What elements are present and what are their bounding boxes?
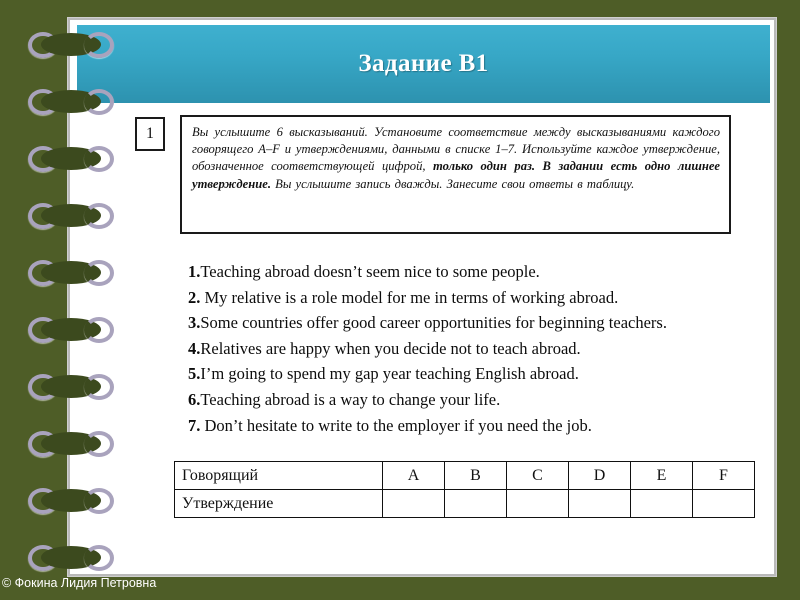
- speaker-letter-cell: F: [693, 462, 755, 490]
- spiral-ring-left-end: [28, 89, 58, 115]
- title-banner: Задание B1: [77, 25, 770, 103]
- statement-item: 6.Teaching abroad is a way to change you…: [188, 387, 776, 413]
- spiral-ring-left-end: [28, 260, 58, 286]
- spiral-ring-left-end: [28, 146, 58, 172]
- task-number-label: 1: [146, 125, 154, 143]
- statement-item: 5.I’m going to spend my gap year teachin…: [188, 361, 776, 387]
- answer-input-cell[interactable]: [631, 490, 693, 518]
- answer-input-cell[interactable]: [693, 490, 755, 518]
- answer-input-cell[interactable]: [569, 490, 631, 518]
- spiral-ring-left-end: [28, 545, 58, 571]
- statement-text: Teaching abroad is a way to change your …: [200, 390, 500, 409]
- statement-item: 7. Don’t hesitate to write to the employ…: [188, 413, 776, 439]
- statement-text: Teaching abroad doesn’t seem nice to som…: [200, 262, 539, 281]
- statement-number: 7.: [188, 416, 200, 435]
- answer-table: ГоворящийABCDEFУтверждение: [174, 461, 755, 518]
- statement-item: 3.Some countries offer good career oppor…: [188, 310, 776, 336]
- statement-item: 1.Teaching abroad doesn’t seem nice to s…: [188, 259, 776, 285]
- spiral-ring-left-end: [28, 317, 58, 343]
- task-number-box: 1: [135, 117, 165, 151]
- instruction-text: Вы услышите 6 высказываний. Установите с…: [192, 124, 720, 193]
- speaker-letter-cell: C: [507, 462, 569, 490]
- statement-number: 5.: [188, 364, 200, 383]
- answer-table-body: ГоворящийABCDEFУтверждение: [175, 462, 755, 518]
- statement-list: 1.Teaching abroad doesn’t seem nice to s…: [188, 259, 776, 438]
- answer-input-cell[interactable]: [507, 490, 569, 518]
- statement-text: I’m going to spend my gap year teaching …: [200, 364, 579, 383]
- statement-number: 2.: [188, 288, 200, 307]
- footer-credit: © Фокина Лидия Петровна: [2, 576, 156, 590]
- statement-text: Some countries offer good career opportu…: [200, 313, 667, 332]
- spiral-ring-left-end: [28, 32, 58, 58]
- statement-number: 1.: [188, 262, 200, 281]
- statement-text: Don’t hesitate to write to the employer …: [200, 416, 591, 435]
- statement-item: 4.Relatives are happy when you decide no…: [188, 336, 776, 362]
- spiral-ring-left-end: [28, 431, 58, 457]
- statement-number: 6.: [188, 390, 200, 409]
- statement-text: My relative is a role model for me in te…: [200, 288, 618, 307]
- spiral-ring-left-end: [28, 203, 58, 229]
- answer-input-cell[interactable]: [445, 490, 507, 518]
- speaker-letter-cell: E: [631, 462, 693, 490]
- table-row: ГоворящийABCDEF: [175, 462, 755, 490]
- spiral-ring-left-end: [28, 374, 58, 400]
- notebook-page: Задание B1 1 Вы услышите 6 высказываний.…: [68, 18, 776, 576]
- statement-item: 2. My relative is a role model for me in…: [188, 285, 776, 311]
- row-label-speaker: Говорящий: [175, 462, 383, 490]
- statement-number: 4.: [188, 339, 200, 358]
- table-row: Утверждение: [175, 490, 755, 518]
- page-title: Задание B1: [358, 50, 488, 78]
- instruction-box: Вы услышите 6 высказываний. Установите с…: [180, 115, 731, 234]
- instruction-part-2: Вы услышите запись дважды. Занесите свои…: [271, 177, 634, 191]
- spiral-ring-left-end: [28, 488, 58, 514]
- speaker-letter-cell: D: [569, 462, 631, 490]
- row-label-statement: Утверждение: [175, 490, 383, 518]
- speaker-letter-cell: B: [445, 462, 507, 490]
- speaker-letter-cell: A: [383, 462, 445, 490]
- statement-text: Relatives are happy when you decide not …: [200, 339, 580, 358]
- statement-number: 3.: [188, 313, 200, 332]
- answer-input-cell[interactable]: [383, 490, 445, 518]
